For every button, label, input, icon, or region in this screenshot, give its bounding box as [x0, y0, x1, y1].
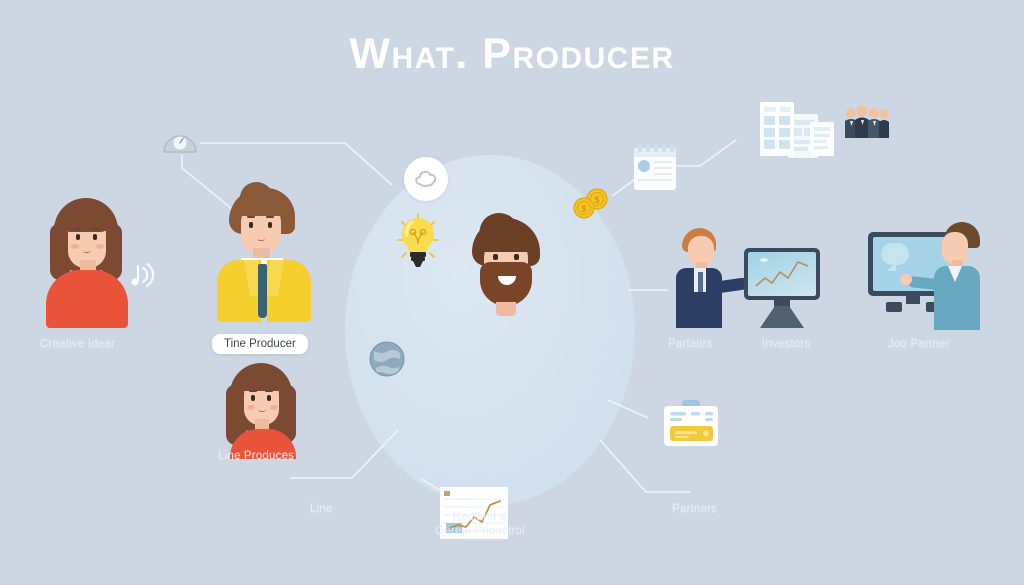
speech-bubble-icon: [881, 243, 909, 265]
svg-text:$: $: [581, 204, 586, 214]
monitor-with-chart: [744, 248, 820, 330]
label-job-partner: Joo Partner: [888, 338, 950, 350]
label-investors: Investors: [762, 338, 810, 350]
documents-icon: [758, 100, 836, 170]
infographic-canvas: What. Producer: [0, 0, 1024, 585]
man-yellow-jacket-figure: [213, 188, 317, 328]
woman-orange-top-figure: [38, 198, 138, 326]
sound-wave-icon: [130, 260, 156, 290]
calendar-icon: [632, 142, 678, 192]
people-group-icon: [844, 104, 890, 142]
lightbulb-icon: [396, 212, 440, 274]
svg-text:$: $: [594, 195, 599, 205]
label-partners-left: Partatirs: [668, 338, 713, 350]
label-record-line2: Gereal Priooctrol: [435, 525, 525, 537]
label-line-produces: Line Produces: [218, 450, 294, 462]
businessman-navy-suit-figure: [672, 228, 742, 328]
gauge-icon: [162, 131, 198, 153]
label-creative-ideas: Creative Idear: [40, 338, 115, 350]
man-light-blue-shirt-figure: [930, 222, 996, 330]
label-record-line1: Reciand &: [453, 511, 508, 523]
cloud-heart-icon: [404, 157, 448, 201]
label-record-general-control: Reciand & Gereal Priooctrol: [420, 510, 540, 538]
globe-icon: [368, 338, 406, 380]
coins-icon: $ $: [572, 188, 612, 220]
label-line: Line: [310, 503, 333, 515]
woman-red-top-figure: [218, 363, 310, 455]
the-producer-badge[interactable]: Tine Producer: [212, 334, 308, 354]
credit-card-icon: [662, 400, 720, 450]
label-partners-bottom: Partners: [672, 503, 717, 515]
producer-head-avatar: [466, 218, 546, 316]
